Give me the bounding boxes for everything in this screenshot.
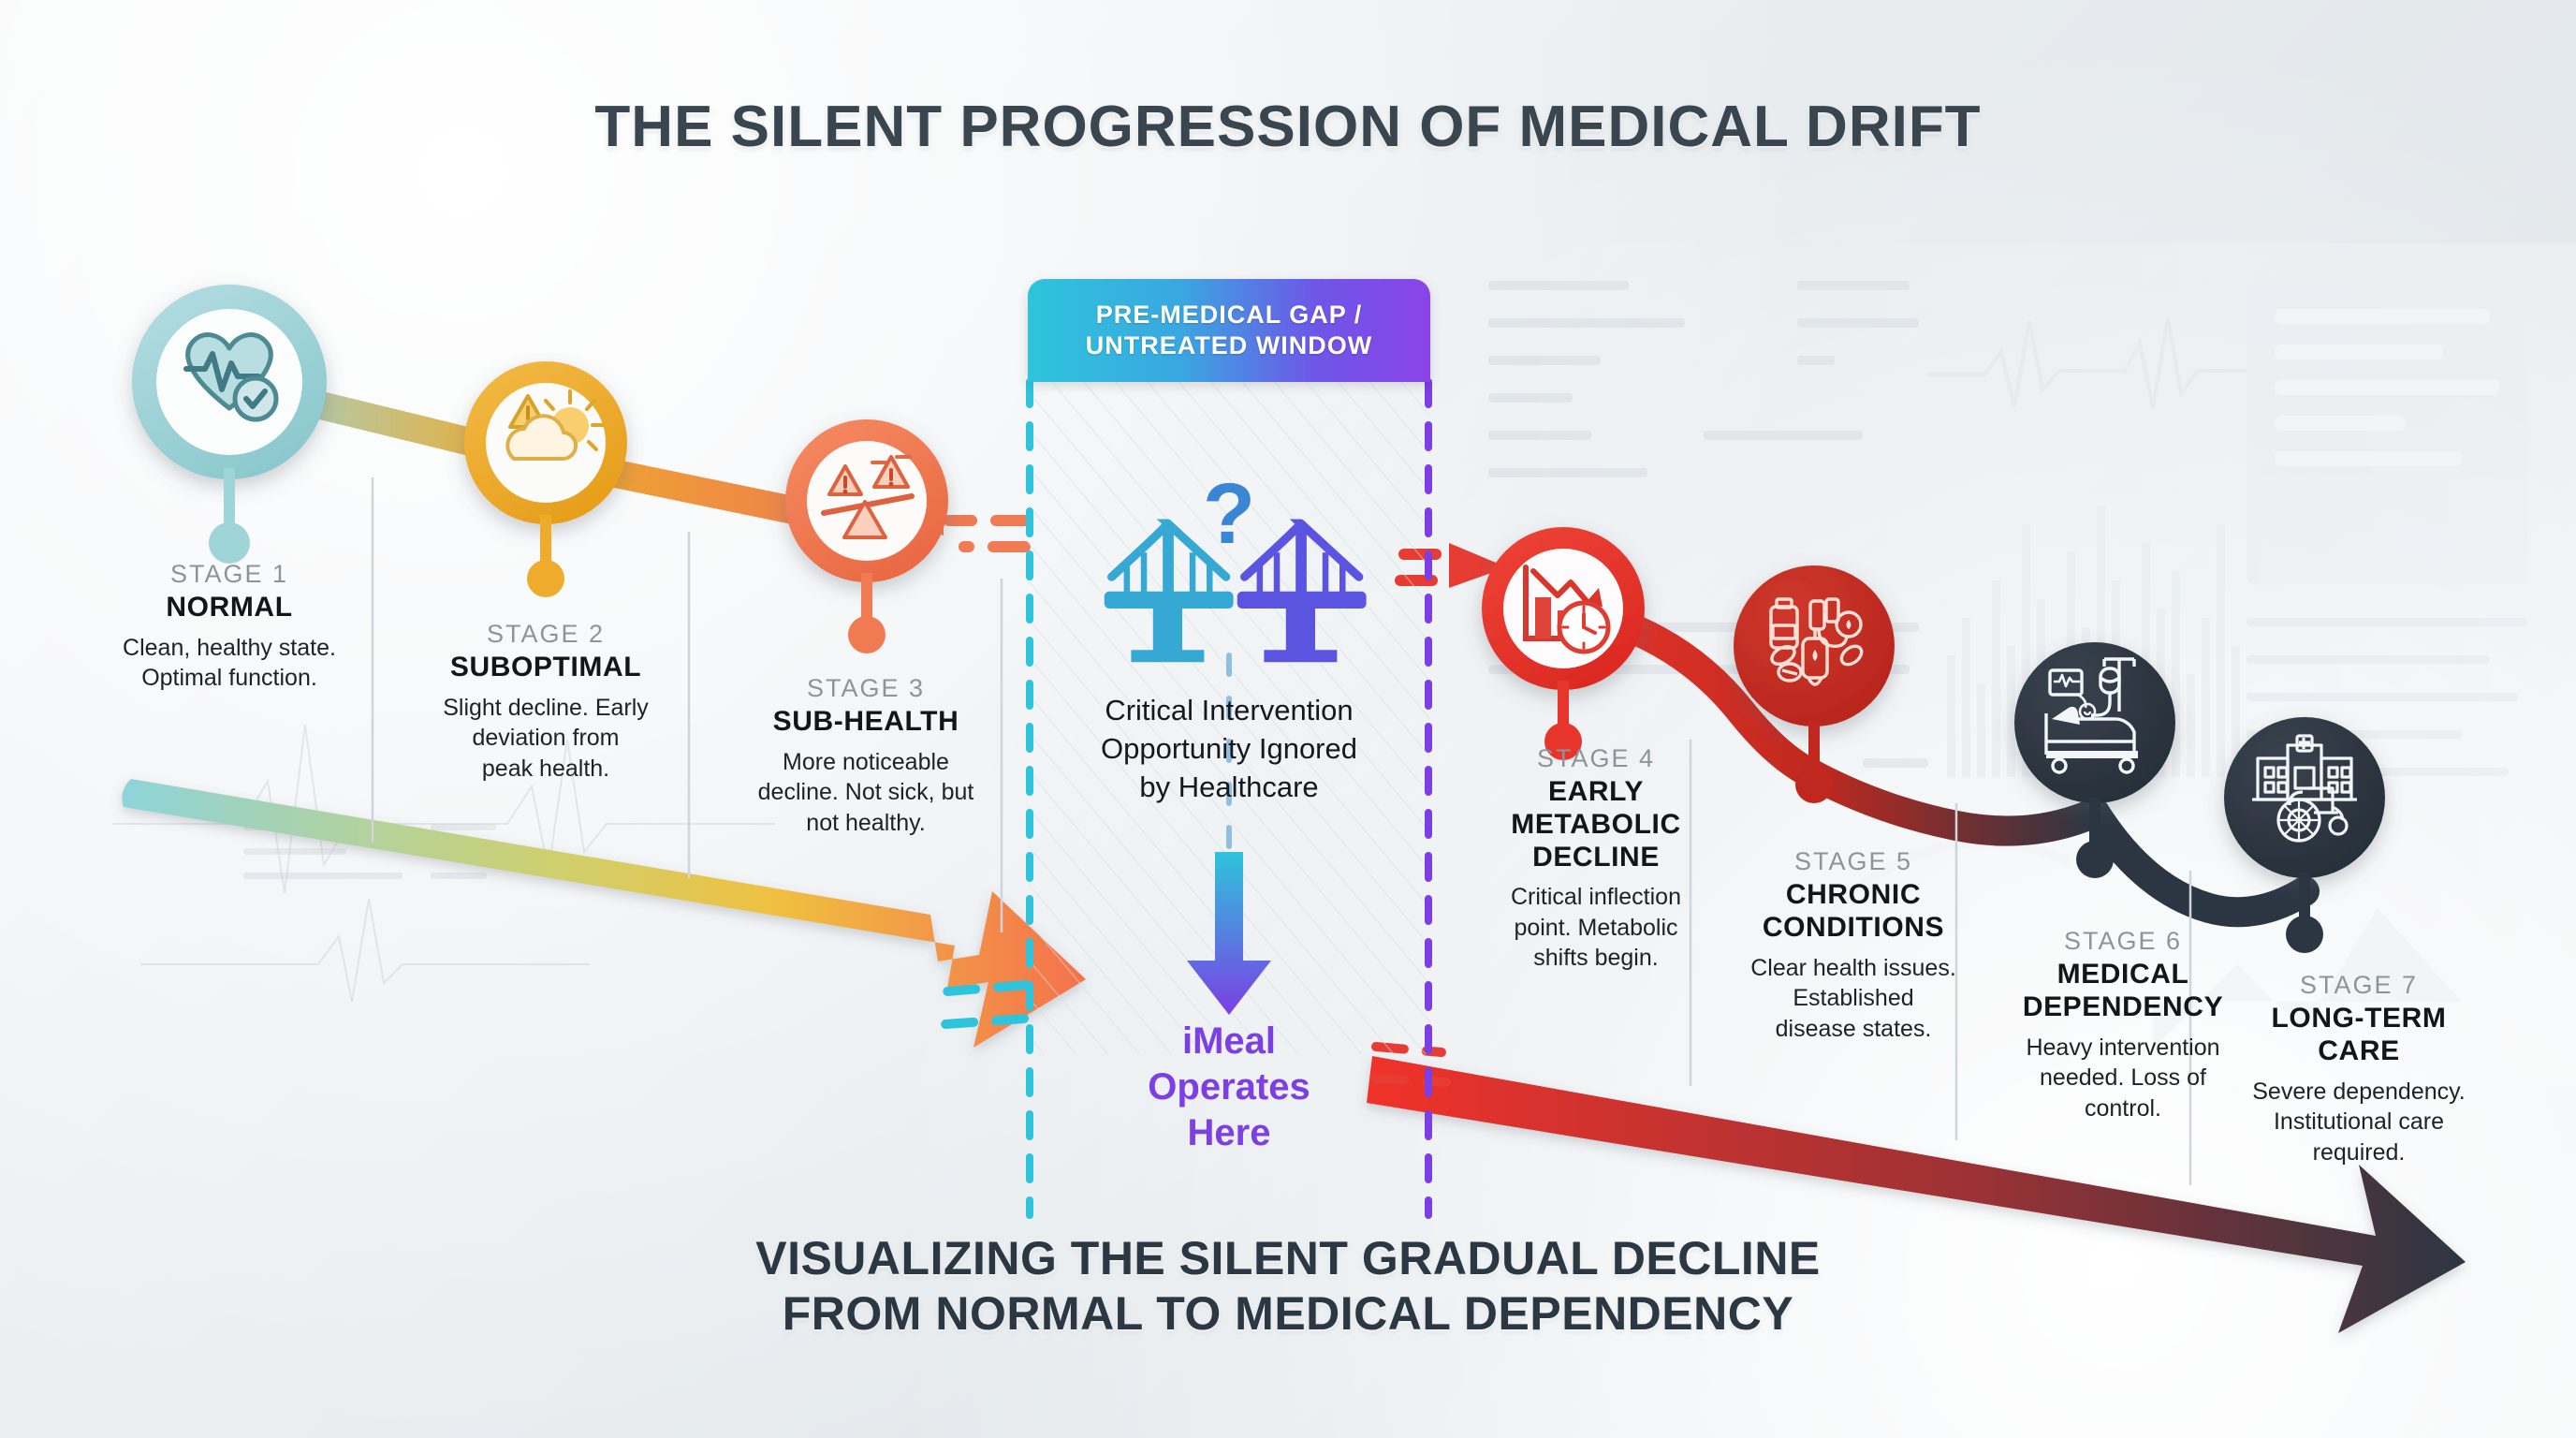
stage-card-3[interactable]: STAGE 3 SUB-HEALTH More noticeable decli… [679,674,1053,838]
stage-kicker: STAGE 2 [359,620,733,649]
stage-node-3[interactable] [785,419,948,653]
stage-desc-line: not healthy. [679,808,1053,839]
stage-desc-line: deviation from [359,723,733,754]
pre-medical-gap-panel[interactable]: PRE-MEDICAL GAP / UNTREATED WINDOW Criti… [1028,279,1430,1215]
footer-line: FROM NORMAL TO MEDICAL DEPENDENCY [0,1286,2576,1342]
gap-caption-line: by Healthcare [1017,768,1442,806]
stage-desc-line: Institutional care [2200,1107,2518,1137]
stage-node-2[interactable] [464,361,627,597]
stage-kicker: STAGE 7 [2200,971,2518,1000]
page-title: THE SILENT PROGRESSION OF MEDICAL DRIFT [0,94,2576,160]
stage-title: SUB-HEALTH [679,706,1053,739]
stage-kicker: STAGE 1 [33,560,426,589]
stage-kicker: STAGE 5 [1694,847,2012,876]
gap-header-line: UNTREATED WINDOW [1086,330,1372,361]
stage-desc-line: More noticeable [679,747,1053,778]
imeal-line: iMeal [1028,1019,1430,1064]
stage-desc-line: Severe dependency. [2200,1077,2518,1108]
gap-caption-line: Opportunity Ignored [1017,729,1442,768]
footer-line: VISUALIZING THE SILENT GRADUAL DECLINE [0,1231,2576,1286]
stage-kicker: STAGE 3 [679,674,1053,703]
stage-kicker: STAGE 4 [1442,744,1750,773]
stage-node-4[interactable] [1482,527,1645,760]
stage-title-line: CARE [2200,1035,2518,1068]
stage-desc-line: peak health. [359,754,733,785]
stage-desc-line: required. [2200,1137,2518,1168]
stage-node-5[interactable] [1734,565,1895,803]
gap-panel-header: PRE-MEDICAL GAP / UNTREATED WINDOW [1028,279,1430,382]
gap-caption-line: Critical Intervention [1017,691,1442,729]
stage-title-line: EARLY [1442,776,1750,809]
stage-title: SUBOPTIMAL [359,652,733,684]
footer-caption: VISUALIZING THE SILENT GRADUAL DECLINE F… [0,1231,2576,1342]
stage-card-7[interactable]: STAGE 7 LONG-TERM CARE Severe dependency… [2200,971,2518,1167]
gap-header-line: PRE-MEDICAL GAP / [1086,300,1372,330]
stage-title-line: CHRONIC [1694,879,2012,912]
stage-card-2[interactable]: STAGE 2 SUBOPTIMAL Slight decline. Early… [359,620,733,784]
stage-title-line: METABOLIC [1442,809,1750,842]
gap-caption: Critical Intervention Opportunity Ignore… [1017,691,1442,807]
stage-title-line: LONG-TERM [2200,1003,2518,1035]
stage-node-1[interactable] [132,285,327,564]
imeal-line: Operates [1028,1064,1430,1110]
imeal-line: Here [1028,1110,1430,1156]
stage-desc-line: Slight decline. Early [359,693,733,724]
stage-desc-line: decline. Not sick, but [679,777,1053,808]
stage-kicker: STAGE 6 [1964,927,2282,956]
imeal-callout: iMeal Operates Here [1028,1019,1430,1155]
